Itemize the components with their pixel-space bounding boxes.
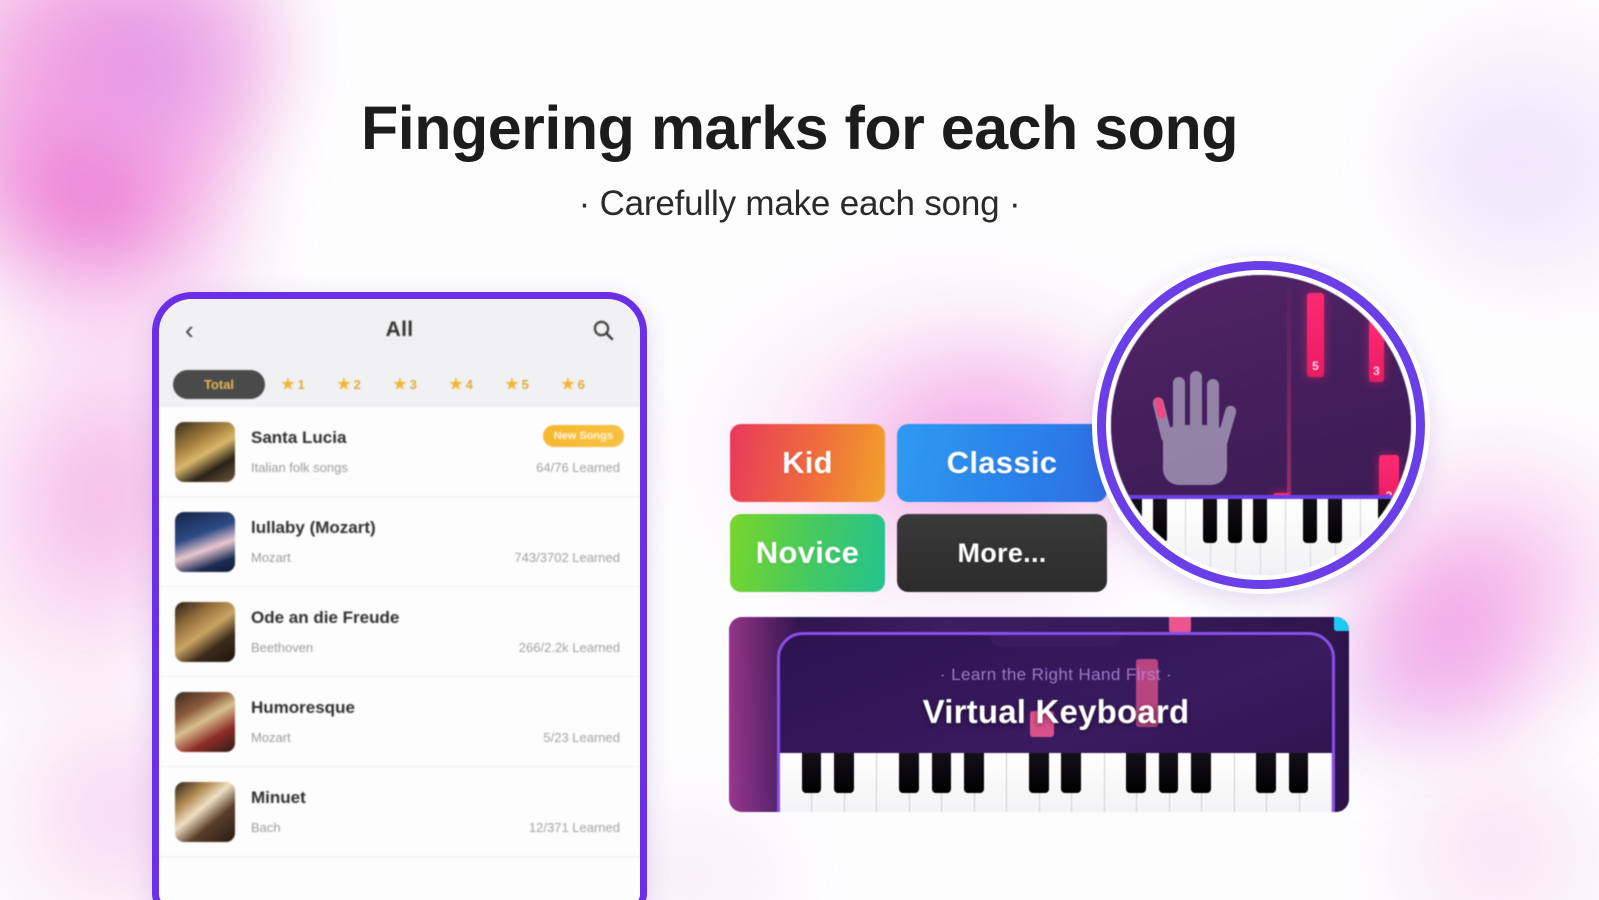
filter-chip-star-6-label: 6 — [578, 377, 585, 392]
nav-title: All — [215, 318, 584, 342]
song-learned-count: 12/371 Learned — [529, 820, 624, 835]
filter-chip-star-3-label: 3 — [410, 377, 417, 392]
piano-white-key — [1186, 499, 1211, 575]
song-info: Humoresque Mozart 5/23 Learned — [251, 698, 624, 745]
song-learned-count: 5/23 Learned — [543, 730, 624, 745]
star-icon: ★ — [505, 377, 518, 392]
song-title: Humoresque — [251, 698, 624, 718]
magnifier-content: 5 3 2 5 — [1111, 275, 1411, 575]
piano-white-key — [1286, 499, 1311, 575]
song-list-item[interactable]: lullaby (Mozart) Mozart 743/3702 Learned — [159, 497, 640, 587]
filter-chip-star-2[interactable]: ★ 2 — [321, 377, 377, 392]
piano-black-key — [1378, 499, 1392, 543]
page-subtitle: · Carefully make each song · — [0, 184, 1599, 224]
song-list-item[interactable]: Santa Lucia Italian folk songs 64/76 Lea… — [159, 407, 640, 497]
song-learned-count: 64/76 Learned — [536, 460, 624, 475]
song-list[interactable]: Santa Lucia Italian folk songs 64/76 Lea… — [159, 407, 640, 900]
banner-tagline: · Learn the Right Hand First · — [780, 665, 1332, 685]
note-trail — [1287, 275, 1291, 511]
note-tile-pink-top — [1169, 617, 1191, 633]
song-artist: Bach — [251, 820, 529, 835]
song-artwork — [175, 422, 235, 482]
phone-notch — [991, 635, 1121, 647]
piano-white-key[interactable] — [1235, 753, 1267, 812]
banner-phone-frame: · Learn the Right Hand First · Virtual K… — [777, 632, 1335, 812]
piano-black-key — [1153, 499, 1167, 543]
star-icon: ★ — [393, 377, 406, 392]
filter-chip-star-4-label: 4 — [466, 377, 473, 392]
background-blob-bottom-right — [1369, 760, 1599, 900]
song-artist: Beethoven — [251, 640, 519, 655]
banner-piano-keys[interactable] — [780, 753, 1332, 812]
song-artwork — [175, 782, 235, 842]
category-button-kid[interactable]: Kid — [730, 424, 885, 502]
song-title: lullaby (Mozart) — [251, 518, 624, 538]
song-list-item[interactable]: Ode an die Freude Beethoven 266/2.2k Lea… — [159, 587, 640, 677]
phone-mockup: ‹ All Total ★ 1 ★ 2 — [152, 292, 647, 900]
piano-black-key[interactable] — [1126, 753, 1146, 793]
song-artist: Italian folk songs — [251, 460, 536, 475]
magnifier-piano-keys — [1111, 495, 1411, 575]
song-artwork — [175, 692, 235, 752]
song-info: Minuet Bach 12/371 Learned — [251, 788, 624, 835]
piano-black-key — [1403, 499, 1411, 543]
note-tile-cyan-top — [1334, 617, 1349, 631]
piano-black-key[interactable] — [1289, 753, 1309, 793]
filter-chip-star-5[interactable]: ★ 5 — [489, 377, 545, 392]
category-button-classic[interactable]: Classic — [897, 424, 1107, 502]
song-artist: Mozart — [251, 730, 543, 745]
piano-black-key[interactable] — [834, 753, 854, 793]
filter-chip-star-1[interactable]: ★ 1 — [265, 377, 321, 392]
hand-outline-icon — [1153, 371, 1239, 491]
piano-black-key — [1203, 499, 1217, 543]
page-title: Fingering marks for each song — [0, 96, 1599, 160]
song-info: lullaby (Mozart) Mozart 743/3702 Learned — [251, 518, 624, 565]
fingering-note-2: 3 — [1369, 320, 1384, 382]
filter-chip-star-3[interactable]: ★ 3 — [377, 377, 433, 392]
filter-chip-star-5-label: 5 — [522, 377, 529, 392]
filter-chip-row[interactable]: Total ★ 1 ★ 2 ★ 3 ★ 4 ★ — [159, 361, 640, 407]
piano-black-key[interactable] — [1061, 753, 1081, 793]
banner-title: Virtual Keyboard — [780, 693, 1332, 731]
filter-chip-star-2-label: 2 — [354, 377, 361, 392]
piano-white-key — [1111, 499, 1136, 575]
piano-black-key — [1228, 499, 1242, 543]
piano-black-key[interactable] — [932, 753, 952, 793]
piano-black-key — [1303, 499, 1317, 543]
piano-white-key[interactable] — [877, 753, 909, 812]
filter-chip-total[interactable]: Total — [173, 370, 265, 399]
song-new-badge: New Songs — [543, 425, 624, 447]
category-button-more[interactable]: More... — [897, 514, 1107, 592]
song-learned-count: 743/3702 Learned — [514, 550, 624, 565]
category-button-novice[interactable]: Novice — [730, 514, 885, 592]
piano-white-key[interactable] — [1105, 753, 1137, 812]
fingering-note-1: 5 — [1307, 293, 1324, 377]
app-nav-bar: ‹ All — [159, 299, 640, 361]
song-title: Minuet — [251, 788, 624, 808]
song-title: Ode an die Freude — [251, 608, 624, 628]
piano-black-key — [1328, 499, 1342, 543]
song-artist: Mozart — [251, 550, 514, 565]
piano-black-key[interactable] — [1159, 753, 1179, 793]
star-icon: ★ — [561, 377, 574, 392]
piano-black-key[interactable] — [1256, 753, 1276, 793]
piano-black-key — [1128, 499, 1142, 543]
phone-screen: ‹ All Total ★ 1 ★ 2 — [159, 299, 640, 900]
song-artwork — [175, 512, 235, 572]
song-learned-count: 266/2.2k Learned — [519, 640, 624, 655]
magnifier-circle: 5 3 2 5 — [1097, 261, 1425, 589]
piano-black-key[interactable] — [899, 753, 919, 793]
virtual-keyboard-banner[interactable]: · Learn the Right Hand First · Virtual K… — [729, 617, 1349, 812]
piano-white-key[interactable] — [1007, 753, 1039, 812]
star-icon: ★ — [281, 377, 294, 392]
song-info: Ode an die Freude Beethoven 266/2.2k Lea… — [251, 608, 624, 655]
search-icon[interactable] — [584, 319, 614, 341]
filter-chip-star-6[interactable]: ★ 6 — [545, 377, 601, 392]
song-list-item[interactable]: Humoresque Mozart 5/23 Learned — [159, 677, 640, 767]
piano-black-key[interactable] — [1191, 753, 1211, 793]
promo-banner: Fingering marks for each song · Carefull… — [0, 0, 1599, 900]
star-icon: ★ — [337, 377, 350, 392]
piano-black-key[interactable] — [802, 753, 822, 793]
piano-black-key[interactable] — [1029, 753, 1049, 793]
piano-white-key — [1361, 499, 1386, 575]
piano-black-key[interactable] — [964, 753, 984, 793]
back-chevron-icon[interactable]: ‹ — [185, 317, 215, 343]
song-artwork — [175, 602, 235, 662]
piano-black-key — [1253, 499, 1267, 543]
filter-chip-star-1-label: 1 — [298, 377, 305, 392]
category-button-grid: Kid Classic Novice More... — [730, 424, 1110, 592]
star-icon: ★ — [449, 377, 462, 392]
piano-white-key[interactable] — [780, 753, 812, 812]
headline-block: Fingering marks for each song · Carefull… — [0, 96, 1599, 224]
song-list-item[interactable]: Minuet Bach 12/371 Learned — [159, 767, 640, 857]
filter-chip-star-4[interactable]: ★ 4 — [433, 377, 489, 392]
